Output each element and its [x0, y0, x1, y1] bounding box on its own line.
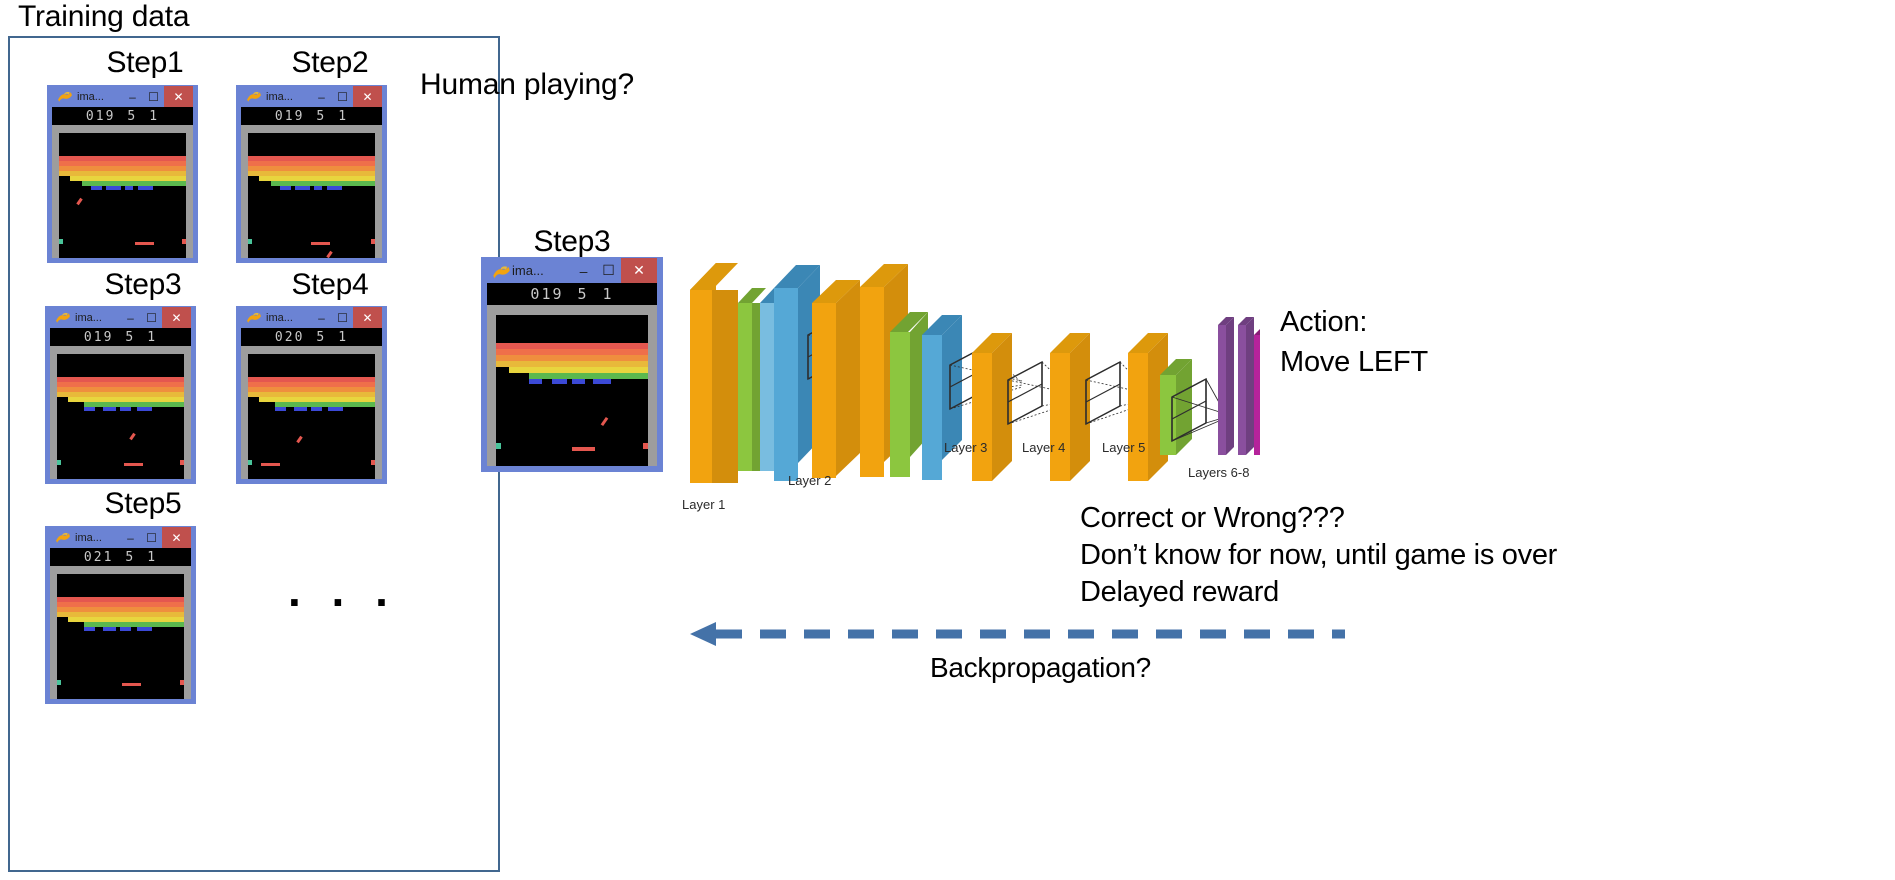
life-marker-left: [57, 460, 61, 465]
game-window-2[interactable]: ima...–☐✕01951: [237, 86, 386, 262]
step-label-2: Step2: [245, 46, 415, 80]
minimize-icon[interactable]: –: [571, 258, 596, 283]
brick: [572, 379, 585, 384]
paddle: [122, 683, 141, 686]
game-scoreline: 01951: [52, 107, 193, 125]
breakout-playfield: [50, 346, 191, 479]
score-value: 019: [530, 285, 563, 303]
lives-value: 5: [316, 109, 326, 124]
life-marker-right: [643, 443, 648, 449]
close-icon[interactable]: ✕: [162, 307, 191, 328]
paddle: [572, 447, 595, 451]
brick: [295, 186, 310, 190]
level-value: 1: [603, 285, 614, 303]
layer-label-3: Layer 3: [944, 440, 987, 455]
breakout-playfield: [487, 305, 657, 466]
cnn-architecture-diagram: Layer 1 Layer 2 Layer 3 Layer 4 Layer 5 …: [660, 225, 1260, 525]
brick: [137, 407, 152, 411]
close-icon[interactable]: ✕: [162, 527, 191, 548]
layer7-bar: [1238, 317, 1254, 455]
brick-row: [84, 402, 184, 407]
playfield-inner: [248, 133, 375, 258]
layer-label-1: Layer 1: [682, 497, 725, 512]
layer4-slab: [1050, 333, 1090, 481]
breakout-playfield: [52, 125, 193, 258]
step-label-5: Step5: [58, 487, 228, 521]
ellipsis-more-steps: . . .: [288, 575, 397, 605]
window-controls[interactable]: –☐✕: [311, 86, 382, 107]
close-icon[interactable]: ✕: [164, 86, 193, 107]
backpropagation-arrow: [690, 620, 1350, 650]
center-step-label: Step3: [487, 225, 657, 259]
verdict-line-2: Don’t know for now, until game is over: [1080, 537, 1557, 574]
brick: [106, 186, 121, 190]
verdict-line-3: Delayed reward: [1080, 574, 1557, 611]
game-scoreline: 01951: [50, 328, 191, 346]
layer2-slab-blue: [922, 315, 962, 480]
close-icon[interactable]: ✕: [621, 258, 657, 283]
window-controls[interactable]: –☐✕: [122, 86, 193, 107]
layer-label-4: Layer 4: [1022, 440, 1065, 455]
brick: [280, 186, 291, 190]
window-controls[interactable]: –☐✕: [311, 307, 382, 328]
life-marker-right: [180, 680, 184, 685]
level-value: 1: [338, 109, 348, 124]
brick: [593, 379, 611, 384]
app-icon: [246, 90, 262, 104]
layer-label-2: Layer 2: [788, 473, 831, 488]
window-title: ima...: [266, 312, 293, 324]
score-value: 019: [275, 109, 304, 124]
layer5-slab-green: [1160, 359, 1192, 455]
cnn-svg: [660, 225, 1260, 525]
game-window-5[interactable]: ima...–☐✕02151: [46, 527, 195, 703]
paddle: [124, 463, 143, 466]
brick: [328, 407, 343, 411]
brick: [125, 186, 133, 190]
minimize-icon[interactable]: –: [311, 307, 332, 328]
human-playing-question: Human playing?: [420, 68, 634, 102]
frustum-4: [1086, 362, 1120, 424]
window-title: ima...: [75, 312, 102, 324]
lives-value: 5: [127, 109, 137, 124]
level-value: 1: [149, 109, 159, 124]
close-icon[interactable]: ✕: [353, 307, 382, 328]
window-titlebar[interactable]: ima...–☐✕: [52, 86, 193, 107]
brick: [84, 627, 95, 631]
minimize-icon[interactable]: –: [120, 527, 141, 548]
game-window-1[interactable]: ima...–☐✕01951: [48, 86, 197, 262]
life-marker-left: [248, 239, 252, 244]
score-value: 020: [275, 330, 304, 345]
brick: [120, 407, 131, 411]
brick: [138, 186, 153, 190]
brick: [311, 407, 322, 411]
life-marker-right: [371, 460, 375, 465]
frustum-3: [1008, 362, 1042, 424]
brick: [120, 627, 131, 631]
maximize-icon[interactable]: ☐: [143, 86, 164, 107]
life-marker-left: [496, 443, 501, 449]
game-scoreline: 01951: [487, 283, 657, 305]
app-icon: [246, 311, 262, 325]
paddle: [261, 463, 280, 466]
life-marker-right: [182, 239, 186, 244]
close-icon[interactable]: ✕: [353, 86, 382, 107]
window-controls[interactable]: –☐✕: [120, 307, 191, 328]
action-line-2: Move LEFT: [1280, 342, 1428, 382]
step-label-3: Step3: [58, 268, 228, 302]
app-icon: [55, 531, 71, 545]
score-value: 019: [86, 109, 115, 124]
life-marker-right: [371, 239, 375, 244]
playfield-inner: [496, 315, 648, 466]
window-controls[interactable]: –☐✕: [120, 527, 191, 548]
life-marker-left: [59, 239, 63, 244]
playfield-inner: [248, 354, 375, 479]
brick: [275, 407, 286, 411]
level-value: 1: [338, 330, 348, 345]
game-scoreline: 02151: [50, 548, 191, 566]
life-marker-left: [248, 460, 252, 465]
layer2-slab-orange: [812, 280, 860, 478]
score-value: 019: [84, 330, 113, 345]
game-window-4[interactable]: ima...–☐✕02051: [237, 307, 386, 483]
window-title: ima...: [77, 91, 104, 103]
app-icon: [55, 311, 71, 325]
window-title: ima...: [512, 263, 544, 278]
window-titlebar[interactable]: ima...–☐✕: [241, 307, 382, 328]
ball: [76, 198, 82, 205]
step-label-1: Step1: [60, 46, 230, 80]
brick-row: [529, 373, 648, 379]
level-value: 1: [147, 330, 157, 345]
ball: [326, 251, 332, 258]
backprop-arrow-svg: [690, 620, 1350, 650]
life-marker-right: [180, 460, 184, 465]
maximize-icon[interactable]: ☐: [332, 307, 353, 328]
maximize-icon[interactable]: ☐: [141, 307, 162, 328]
minimize-icon[interactable]: –: [122, 86, 143, 107]
game-scoreline: 01951: [241, 107, 382, 125]
playfield-inner: [59, 133, 186, 258]
brick: [91, 186, 102, 190]
lives-value: 5: [578, 285, 589, 303]
step-label-4: Step4: [245, 268, 415, 302]
layer1-slab-orange-back: [690, 263, 738, 483]
window-title: ima...: [266, 91, 293, 103]
brick: [552, 379, 567, 384]
game-scoreline: 02051: [241, 328, 382, 346]
window-titlebar[interactable]: ima...–☐✕: [487, 258, 657, 283]
brick: [103, 407, 116, 411]
action-output-text: Action: Move LEFT: [1280, 302, 1428, 382]
brick: [84, 407, 95, 411]
brick: [314, 186, 322, 190]
arrow-head-icon: [690, 622, 716, 646]
layer-label-6-8: Layers 6-8: [1188, 465, 1249, 480]
paddle: [135, 242, 154, 245]
brick-row: [84, 622, 184, 627]
window-titlebar[interactable]: ima...–☐✕: [50, 307, 191, 328]
level-value: 1: [147, 550, 157, 565]
training-data-title: Training data: [18, 0, 189, 34]
minimize-icon[interactable]: –: [311, 86, 332, 107]
playfield-inner: [57, 574, 184, 699]
ball: [129, 433, 135, 440]
life-marker-left: [57, 680, 61, 685]
ball: [601, 417, 609, 426]
brick: [137, 627, 152, 631]
maximize-icon[interactable]: ☐: [141, 527, 162, 548]
brick-row: [275, 402, 375, 407]
minimize-icon[interactable]: –: [120, 307, 141, 328]
breakout-playfield: [241, 125, 382, 258]
window-title: ima...: [75, 532, 102, 544]
app-icon: [57, 90, 73, 104]
ball: [296, 436, 302, 443]
breakout-playfield: [241, 346, 382, 479]
lives-value: 5: [316, 330, 326, 345]
backpropagation-label: Backpropagation?: [930, 652, 1151, 684]
window-controls[interactable]: –☐✕: [571, 258, 657, 283]
layer-label-5: Layer 5: [1102, 440, 1145, 455]
maximize-icon[interactable]: ☐: [332, 86, 353, 107]
window-titlebar[interactable]: ima...–☐✕: [241, 86, 382, 107]
brick: [103, 627, 116, 631]
action-line-1: Action:: [1280, 302, 1428, 342]
brick: [294, 407, 307, 411]
layer8-bar: [1254, 327, 1260, 455]
app-icon: [492, 264, 508, 278]
layer6-bar: [1218, 317, 1234, 455]
brick: [327, 186, 342, 190]
window-titlebar[interactable]: ima...–☐✕: [50, 527, 191, 548]
game-window-center[interactable]: ima...–☐✕01951: [482, 258, 662, 471]
breakout-playfield: [50, 566, 191, 699]
layer3-slab: [972, 333, 1012, 481]
playfield-inner: [57, 354, 184, 479]
game-window-3[interactable]: ima...–☐✕01951: [46, 307, 195, 483]
maximize-icon[interactable]: ☐: [596, 258, 621, 283]
paddle: [311, 242, 330, 245]
lives-value: 5: [125, 330, 135, 345]
lives-value: 5: [125, 550, 135, 565]
score-value: 021: [84, 550, 113, 565]
brick: [529, 379, 542, 384]
